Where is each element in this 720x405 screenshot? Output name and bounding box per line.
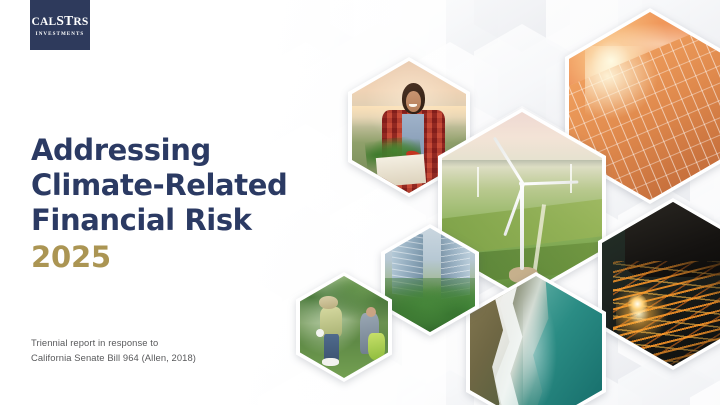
hexagon-photo-welding-sparks [598,198,720,370]
hexagon-photo-park-cleanup [296,272,392,382]
title-line-3: Financial Risk [31,203,361,238]
subtitle-line-1: Triennial report in response to [31,336,331,351]
calstrs-logo[interactable]: CALSTRS INVESTMENTS [30,0,90,50]
hexagon-photo-green-city [381,224,479,336]
hexagon-photo-coastline [466,272,606,405]
title-line-1: Addressing [31,133,361,168]
title-year: 2025 [31,238,361,276]
calstrs-logo-subtext: INVESTMENTS [36,31,85,37]
subtitle-line-2: California Senate Bill 964 (Allen, 2018) [31,351,331,366]
cover-title: Addressing Climate-Related Financial Ris… [31,133,361,276]
title-line-2: Climate-Related [31,168,361,203]
report-cover-slide: CALSTRS INVESTMENTS Addressing Climate-R… [0,0,720,405]
calstrs-wordmark: CALSTRS [32,14,89,29]
cover-subtitle: Triennial report in response to Californ… [31,336,331,365]
